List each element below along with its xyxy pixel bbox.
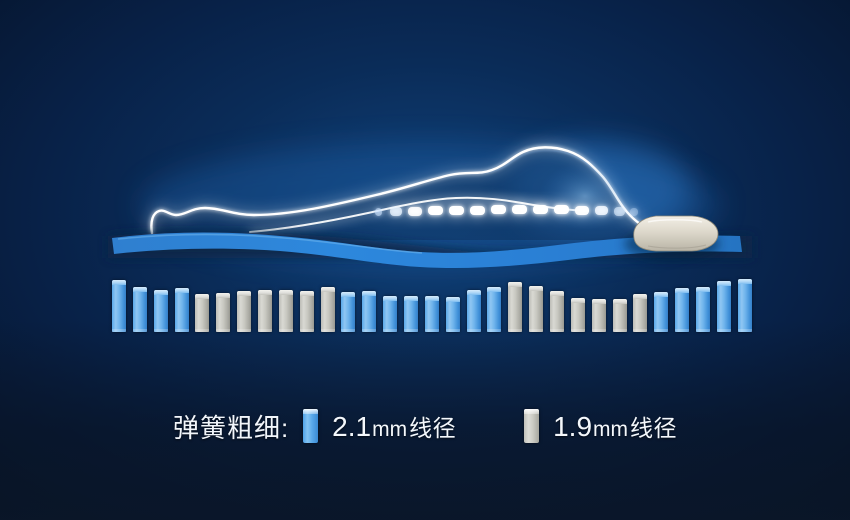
legend-swatch-gray-icon [524,409,539,443]
spring-bar [175,288,189,332]
mattress-spring-infographic: 弹簧粗细: 2.1 mm 线径 1.9 mm 线径 [0,0,850,520]
spring-gauge-legend: 弹簧粗细: 2.1 mm 线径 1.9 mm 线径 [0,398,850,454]
spring-bar [237,291,251,332]
spring-bar [508,282,522,332]
spring-bar [300,291,314,332]
spring-bar [133,287,147,332]
sleeping-figure-scene [0,0,850,290]
head-glow [539,162,631,230]
spring-bar [529,286,543,332]
spring-bar [258,290,272,332]
spring-bar [571,298,585,332]
spring-bar [738,279,752,332]
spring-bar [717,281,731,332]
spring-bar [446,297,460,332]
legend-unit-blue: mm [372,418,407,442]
legend-text-gray: 1.9 mm 线径 [553,409,677,443]
legend-suffix-gray: 线径 [630,409,677,443]
legend-value-gray: 1.9 [553,411,592,443]
spring-bar [675,288,689,332]
legend-item-gray: 1.9 mm 线径 [524,409,677,443]
legend-suffix-blue: 线径 [409,409,456,443]
spring-bar [592,299,606,332]
spring-firmness-row [112,276,752,332]
spring-bar [404,296,418,332]
spring-bar [383,296,397,332]
spring-bar [487,287,501,332]
legend-swatch-blue-icon [303,409,318,443]
spring-bar [467,290,481,332]
spring-bar [341,292,355,332]
spring-bar [154,290,168,332]
spring-bar [279,290,293,332]
legend-item-blue: 2.1 mm 线径 [303,409,456,443]
spring-bar [633,294,647,332]
spring-bar [613,299,627,332]
spring-bar [321,287,335,332]
legend-value-blue: 2.1 [332,411,371,443]
spring-bar [425,296,439,332]
legend-unit-gray: mm [593,418,628,442]
legend-text-blue: 2.1 mm 线径 [332,409,456,443]
legend-label: 弹簧粗细: [173,408,289,445]
spring-bar [696,287,710,332]
spring-bar [112,280,126,332]
spring-bar [195,294,209,332]
spring-bar [362,291,376,332]
spring-bar [216,293,230,332]
spring-bar [550,291,564,332]
spring-bar [654,292,668,332]
